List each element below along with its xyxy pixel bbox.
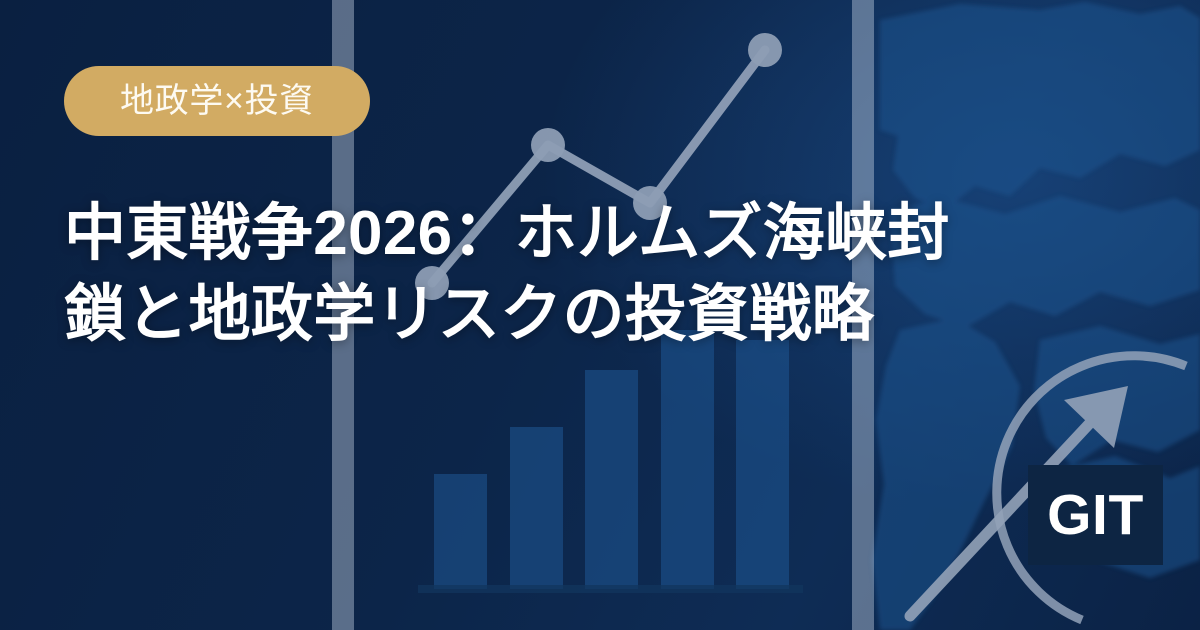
og-image-card: 地政学×投資 中東戦争2026：ホルムズ海峡封 鎖と地政学リスクの投資戦略 GI… bbox=[0, 0, 1200, 630]
page-title: 中東戦争2026：ホルムズ海峡封 鎖と地政学リスクの投資戦略 bbox=[64, 194, 1124, 355]
card-content: 地政学×投資 中東戦争2026：ホルムズ海峡封 鎖と地政学リスクの投資戦略 bbox=[0, 0, 1200, 630]
site-logo: GIT bbox=[1028, 465, 1163, 565]
site-logo-text: GIT bbox=[1047, 487, 1144, 544]
category-badge: 地政学×投資 bbox=[64, 66, 370, 136]
